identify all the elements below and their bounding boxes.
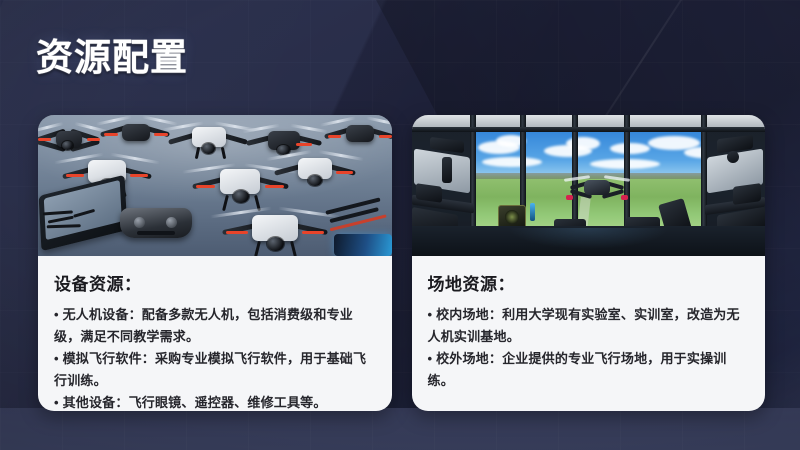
- equipment-card-body: 设备资源： • 无人机设备：配备多款无人机，包括消费级和专业级，满足不同教学需求…: [38, 256, 392, 411]
- fpv-goggles-icon: [334, 234, 392, 256]
- remote-controller-icon: [120, 208, 192, 238]
- venue-card-body: 场地资源： • 校内场地：利用大学现有实验室、实训室，改造为无人机实训基地。 •…: [412, 256, 766, 402]
- drone-icon: [270, 147, 360, 195]
- card-list: 设备资源： • 无人机设备：配备多款无人机，包括消费级和专业级，满足不同教学需求…: [38, 115, 765, 411]
- equipment-card-heading: 设备资源：: [54, 270, 376, 295]
- arm-mount-left: [442, 157, 452, 183]
- card-venue-resources[interactable]: 场地资源： • 校内场地：利用大学现有实验室、实训室，改造为无人机实训基地。 •…: [412, 115, 766, 411]
- list-item: • 校外场地：企业提供的专业飞行场地，用于实操训练。: [428, 348, 750, 392]
- page-title: 资源配置: [36, 36, 188, 80]
- camera-right: [727, 151, 739, 163]
- venue-card-heading: 场地资源：: [428, 270, 750, 295]
- venue-bullet-list: • 校内场地：利用大学现有实验室、实训室，改造为无人机实训基地。 • 校外场地：…: [428, 304, 750, 392]
- list-item: • 模拟飞行软件：采购专业模拟飞行软件，用于基础飞行训练。: [54, 348, 376, 392]
- card-equipment-resources[interactable]: 设备资源： • 无人机设备：配备多款无人机，包括消费级和专业级，满足不同教学需求…: [38, 115, 392, 411]
- equipment-photo: [38, 115, 392, 256]
- equipment-bullet-list: • 无人机设备：配备多款无人机，包括消费级和专业级，满足不同教学需求。 • 模拟…: [54, 304, 376, 411]
- photo-floor-glow: [500, 228, 677, 256]
- drone-icon: [166, 117, 252, 161]
- drone-icon: [564, 175, 630, 203]
- list-item: • 校内场地：利用大学现有实验室、实训室，改造为无人机实训基地。: [428, 304, 750, 348]
- list-item: • 其他设备：飞行眼镜、遥控器、维修工具等。: [54, 392, 376, 411]
- window-header: [412, 127, 766, 132]
- drone-icon: [216, 201, 334, 256]
- slide: 资源配置: [0, 0, 800, 450]
- venue-photo: [412, 115, 766, 256]
- indicator-light-icon: [530, 203, 535, 221]
- list-item: • 无人机设备：配备多款无人机，包括消费级和专业级，满足不同教学需求。: [54, 304, 376, 348]
- drone-icon: [98, 115, 174, 149]
